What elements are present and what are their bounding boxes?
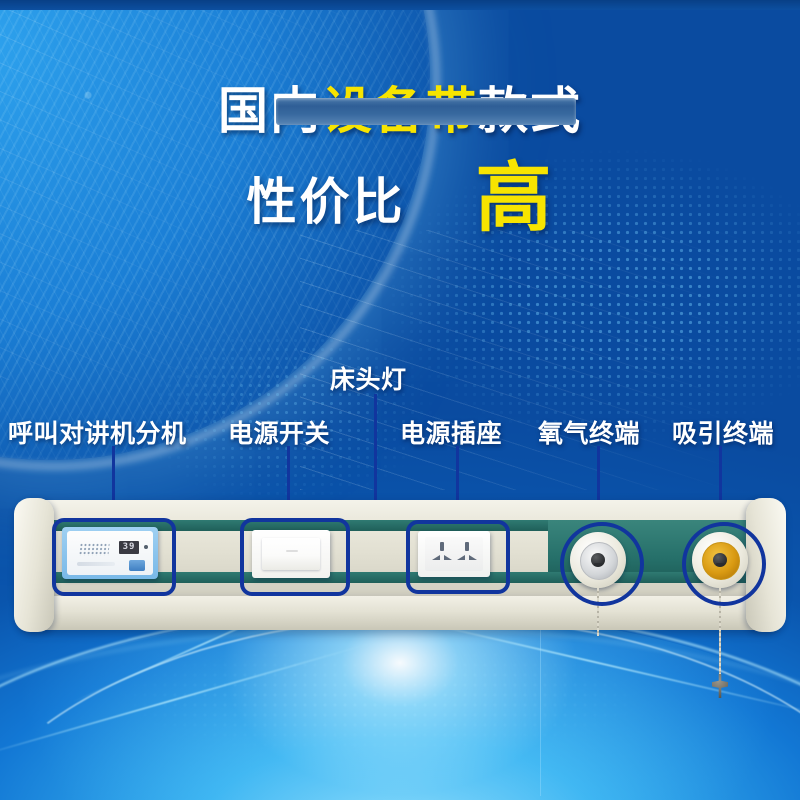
highlight-intercom	[52, 518, 176, 596]
panel-end-cap-left	[14, 498, 54, 632]
highlight-oxygen	[560, 522, 644, 606]
top-band	[0, 0, 800, 10]
horizon-arc	[0, 626, 800, 800]
world-map-dots-left	[120, 300, 450, 520]
callout-label-suction: 吸引终端	[672, 414, 774, 450]
highlight-suction	[682, 522, 766, 606]
panel-lower-rail	[18, 596, 782, 630]
highlight-outlet	[406, 520, 510, 594]
callout-label-outlet: 电源插座	[400, 414, 502, 450]
subheadline-text: 性价比	[247, 162, 406, 234]
promo-banner: 国内设备带款式 性价比高 呼叫对讲机分机 电源开关 床头灯 电源插座 氧气终端 …	[0, 0, 800, 800]
callout-label-intercom: 呼叫对讲机分机	[8, 414, 187, 450]
subheadline-emphasis: 高	[476, 160, 554, 236]
callout-label-switch: 电源开关	[228, 414, 330, 450]
highlight-switch	[240, 518, 350, 596]
meridian-line	[540, 626, 541, 796]
callout-label-oxygen: 氧气终端	[538, 414, 640, 450]
bedside-lamp-diffuser[interactable]	[276, 98, 576, 125]
headline-line-2: 性价比高	[0, 160, 800, 236]
callout-label-bedlamp: 床头灯	[330, 360, 407, 396]
